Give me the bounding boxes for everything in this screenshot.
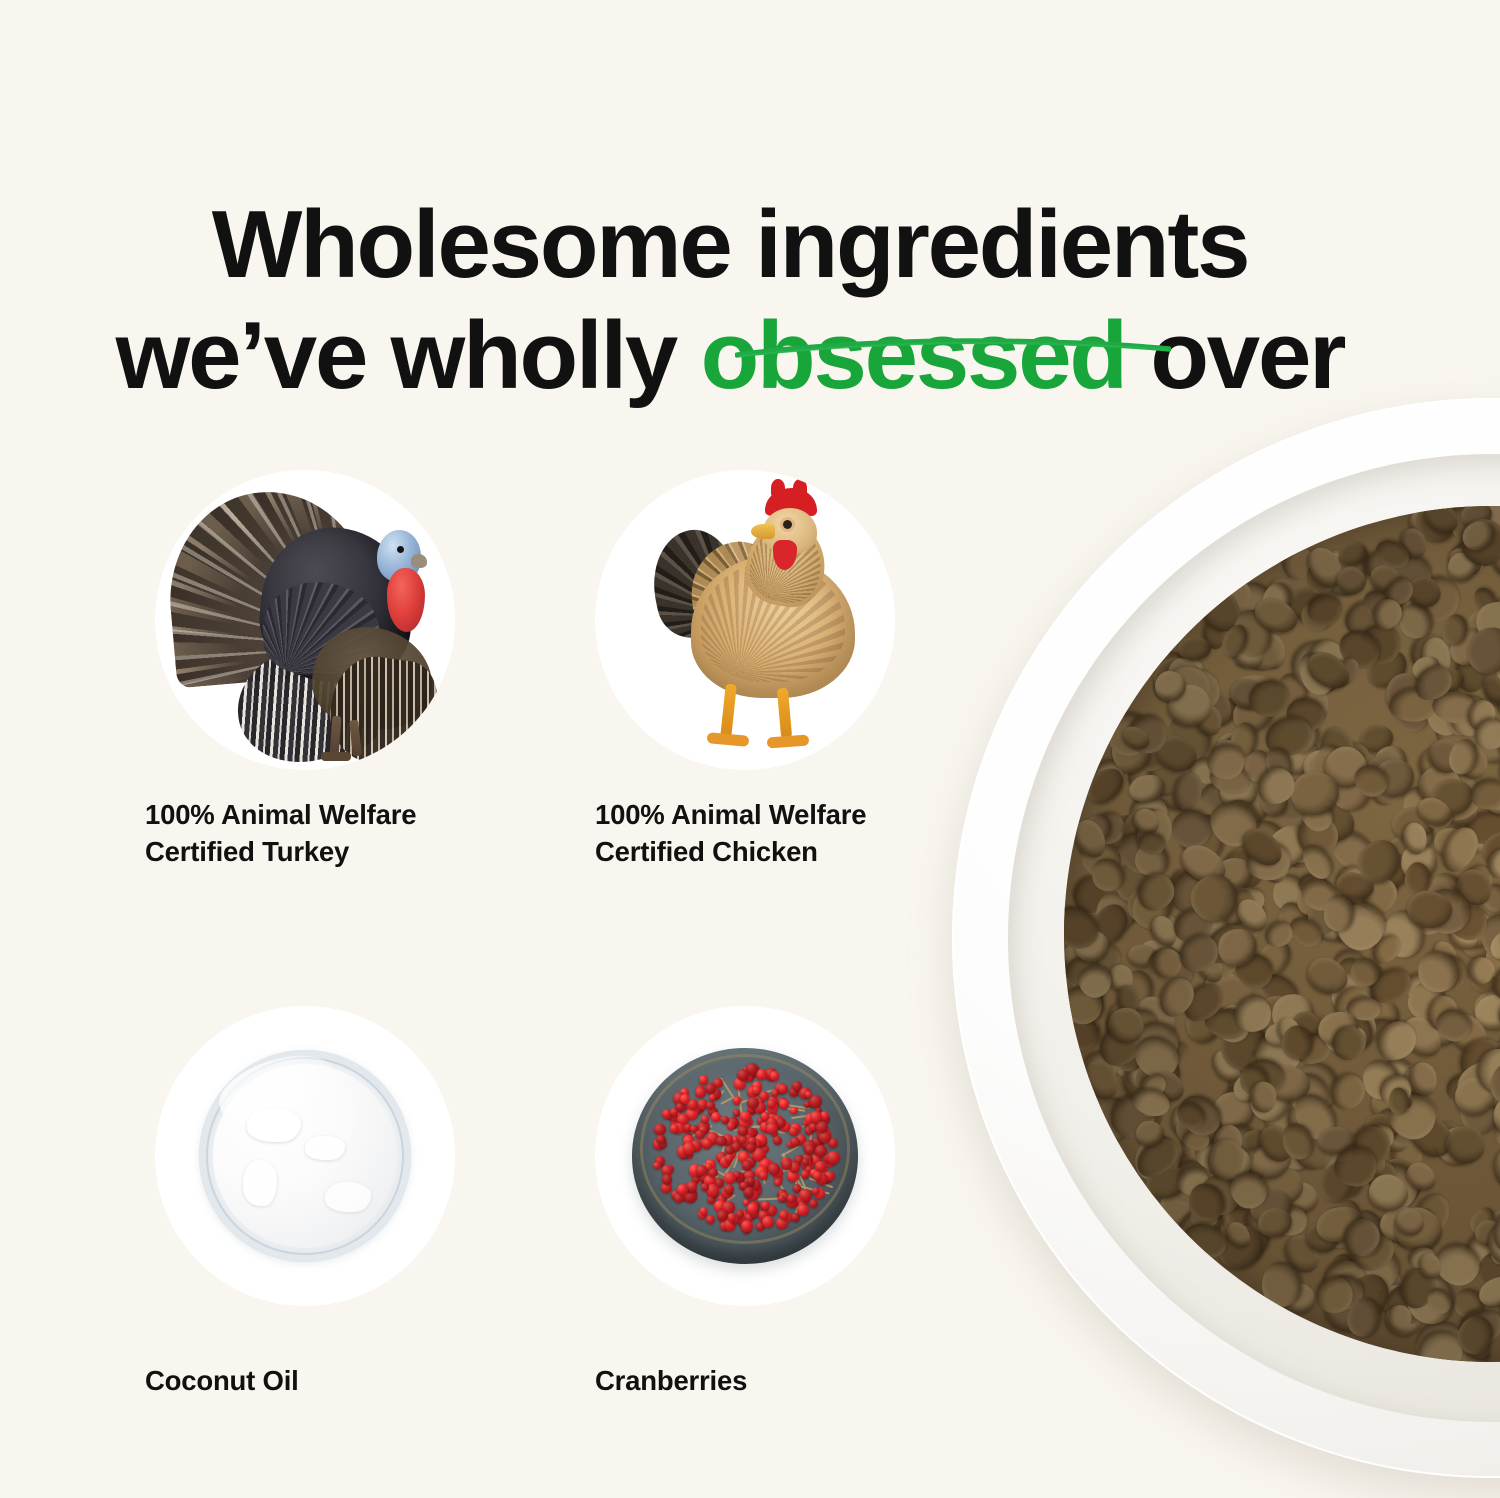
headline-line-2-after: over (1126, 302, 1344, 409)
cranberry (746, 1143, 756, 1153)
turkey-foot (321, 752, 351, 761)
cranberry (724, 1172, 736, 1184)
page-headline: Wholesome ingredients we’ve wholly obses… (0, 190, 1460, 411)
headline-line-1: Wholesome ingredients (0, 190, 1460, 300)
coconut-oil-jar-photo-icon (155, 1006, 455, 1306)
cranberry (779, 1099, 788, 1108)
cranberry (725, 1154, 734, 1163)
cranberry (778, 1084, 788, 1094)
cranberry (683, 1142, 696, 1155)
ingredient-label-cranberries: Cranberries (595, 1362, 900, 1399)
cranberry (752, 1086, 761, 1095)
cranberry (827, 1151, 840, 1164)
oil-lump (325, 1182, 371, 1212)
glass-jar (199, 1050, 411, 1262)
turkey-photo-icon (155, 470, 455, 770)
cranberry (766, 1123, 778, 1135)
cranberry (656, 1135, 666, 1145)
cranberry (761, 1112, 769, 1120)
cranberry (805, 1145, 815, 1155)
cranberry (809, 1199, 818, 1208)
headline-line-2: we’ve wholly obsessed over (0, 301, 1460, 411)
headline-accent-word: obsessed (701, 302, 1126, 409)
cranberry (706, 1215, 715, 1224)
cranberry (695, 1130, 705, 1140)
ingredient-grid: 100% Animal Welfare Certified Turkey (0, 470, 900, 1399)
ingredient-row-1: 100% Animal Welfare Certified Turkey (0, 470, 900, 870)
berry-stem (721, 1097, 733, 1104)
cranberry (695, 1087, 706, 1098)
kibble-piece (1178, 637, 1211, 660)
cranberry (797, 1204, 810, 1217)
cranberry (762, 1216, 774, 1228)
oil-lump (305, 1136, 345, 1160)
kibble-piece (1307, 592, 1343, 626)
cranberries-bowl-photo-icon (595, 1006, 895, 1306)
ingredient-label-turkey: 100% Animal Welfare Certified Turkey (145, 796, 455, 870)
cranberry (654, 1124, 666, 1136)
cranberry (670, 1124, 679, 1133)
cranberry (653, 1162, 661, 1170)
cranberry (813, 1171, 822, 1180)
cranberry (774, 1179, 782, 1187)
cranberry (742, 1160, 753, 1171)
cranberry (711, 1112, 722, 1123)
cranberry (779, 1210, 789, 1220)
cranberry-pile (648, 1062, 842, 1238)
cranberry (773, 1136, 782, 1145)
ingredient-item-cranberries[interactable]: Cranberries (455, 1006, 900, 1399)
headline-line-2-before: we’ve wholly (116, 302, 701, 409)
cranberry (815, 1145, 827, 1157)
turkey-eye (397, 546, 404, 553)
cranberry (770, 1071, 779, 1080)
cranberry (709, 1094, 716, 1101)
cranberry (733, 1096, 741, 1104)
ingredients-marketing-panel: Wholesome ingredients we’ve wholly obses… (0, 0, 1500, 1498)
chicken-photo-icon (595, 470, 895, 770)
ingredient-row-2: Coconut Oil Cranberries (0, 1006, 900, 1399)
chicken-leg (720, 684, 737, 739)
chicken-foot (707, 732, 750, 747)
cranberry (768, 1163, 780, 1175)
cranberry (701, 1183, 709, 1191)
ceramic-bowl (632, 1048, 858, 1264)
cranberry (767, 1099, 776, 1108)
cranberry (802, 1158, 810, 1166)
dog-food-bowl-photo-icon (952, 398, 1500, 1478)
ingredient-item-coconut-oil[interactable]: Coconut Oil (0, 1006, 455, 1399)
berry-stem (758, 1197, 780, 1200)
oil-lump (243, 1160, 277, 1206)
cranberry (799, 1189, 812, 1202)
cranberry (699, 1075, 709, 1085)
turkey-wattle (387, 568, 425, 632)
kibble-piece (1262, 1262, 1302, 1307)
cranberry (747, 1203, 758, 1214)
cranberry (737, 1069, 749, 1081)
cranberry (759, 1171, 768, 1180)
cranberry (662, 1174, 673, 1185)
ingredient-item-chicken[interactable]: 100% Animal Welfare Certified Chicken (455, 470, 900, 870)
cranberry (705, 1083, 716, 1094)
cranberry (782, 1159, 793, 1170)
chicken-foot (767, 735, 810, 749)
cranberry (716, 1136, 726, 1146)
ingredient-item-turkey[interactable]: 100% Animal Welfare Certified Turkey (0, 470, 455, 870)
cranberry (739, 1135, 748, 1144)
cranberry (738, 1126, 748, 1136)
cranberry (744, 1187, 754, 1197)
ingredient-label-chicken: 100% Animal Welfare Certified Chicken (595, 796, 900, 870)
cranberry (703, 1139, 711, 1147)
chicken-eye (783, 520, 792, 529)
cranberry (801, 1170, 810, 1179)
cranberry (706, 1101, 715, 1110)
kibble-piece (1388, 1087, 1408, 1115)
turkey-beak (411, 554, 427, 568)
cranberry (790, 1107, 797, 1114)
cranberry (701, 1115, 709, 1123)
cranberry (741, 1220, 753, 1232)
ingredient-label-coconut-oil: Coconut Oil (145, 1362, 455, 1399)
kibble-piece (1471, 779, 1500, 809)
cranberry (740, 1111, 751, 1122)
chicken-beak (751, 524, 775, 539)
kibble-piece (1490, 1142, 1500, 1195)
